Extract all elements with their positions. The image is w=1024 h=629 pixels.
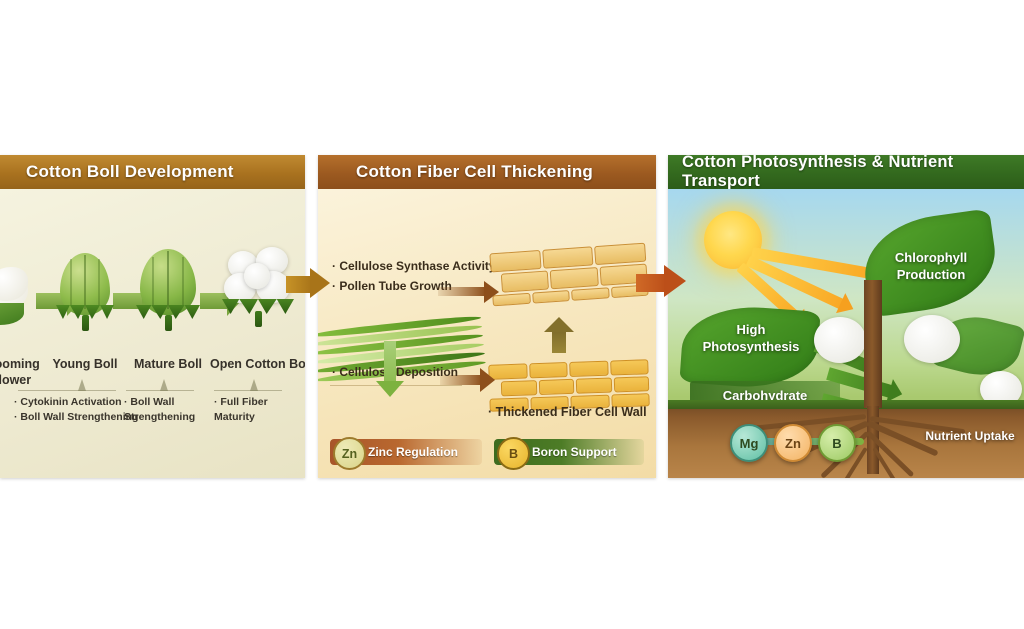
note-group-2: · Boll Wall Strengthening xyxy=(124,395,195,425)
bullet-pollen-tube-growth: · Pollen Tube Growth xyxy=(332,277,452,296)
stage-label-blooming-flower-line2: Flower xyxy=(0,373,44,387)
brick xyxy=(501,380,537,396)
brick xyxy=(538,379,574,395)
panel-1-title: Cotton Boll Development xyxy=(0,155,305,189)
nutrient-badge-b[interactable]: B xyxy=(818,424,856,462)
zn-symbol-icon: Zn xyxy=(333,437,366,470)
cellulose-down-arrow-head xyxy=(376,381,404,397)
chip-zinc-regulation[interactable]: Zn Zinc Regulation xyxy=(330,439,482,465)
brick xyxy=(613,376,649,392)
nutrient-b-label: B xyxy=(832,436,841,451)
panel-cotton-boll-development: Cotton Boll Development xyxy=(0,155,305,478)
infographic-canvas: Cotton Boll Development xyxy=(0,0,1024,629)
open-cotton-boll-illustration xyxy=(222,247,296,333)
mature-boll-illustration xyxy=(135,249,201,333)
note-cytokinin-activation: · Cytokinin Activation xyxy=(14,395,138,410)
tag-chlorophyll-line1: Chlorophyll xyxy=(876,249,986,266)
note-divider-3 xyxy=(214,390,282,391)
nutrient-badge-mg[interactable]: Mg xyxy=(730,424,768,462)
arrow-to-lower-cell-wall-head xyxy=(480,368,495,392)
chip-boron-label: Boron Support xyxy=(532,445,617,459)
note-group-3: · Full Fiber Maturity xyxy=(214,395,268,425)
panel-2-title: Cotton Fiber Cell Thickening xyxy=(318,155,656,189)
brick xyxy=(489,250,541,272)
note-boll-wall: · Boll Wall xyxy=(124,395,195,410)
stage-label-open-cotton-boll: Open Cotton Boll xyxy=(210,357,305,371)
note-strengthening: Strengthening xyxy=(124,410,195,425)
young-boll-illustration xyxy=(54,251,116,333)
thick-cell-wall-diagram xyxy=(488,242,649,308)
note-divider-1 xyxy=(18,390,116,391)
brick xyxy=(576,378,612,394)
cotton-boll-plant-left xyxy=(814,317,866,363)
panel-cotton-photosynthesis-nutrient-transport: Cotton Photosynthesis & Nutrient Transpo… xyxy=(668,155,1024,478)
panel-3-body: Chlorophyll Production High Photosynthes… xyxy=(668,189,1024,478)
tag-high-photosynthesis: High Photosynthesis xyxy=(690,321,812,355)
note-maturity: Maturity xyxy=(214,410,268,425)
panel-cotton-fiber-cell-thickening: Cotton Fiber Cell Thickening · Cellulose… xyxy=(318,155,656,478)
divider-peak-1 xyxy=(78,379,86,391)
thickening-up-arrow-head xyxy=(544,317,574,332)
brick xyxy=(571,287,609,301)
brick xyxy=(542,246,594,268)
panel-1-body: Blooming Flower Young Boll Mature Boll O… xyxy=(0,189,305,478)
tag-chlorophyll-production: Chlorophyll Production xyxy=(876,249,986,283)
grass-line xyxy=(668,400,1024,409)
blooming-flower-illustration xyxy=(0,267,40,329)
note-boll-wall-strengthening: · Boll Wall Strengthening xyxy=(14,410,138,425)
note-full-fiber: · Full Fiber xyxy=(214,395,268,410)
panel-3-title: Cotton Photosynthesis & Nutrient Transpo… xyxy=(668,155,1024,189)
tag-nutrient-uptake: Nutrient Uptake xyxy=(918,428,1022,445)
brick xyxy=(529,362,568,378)
plant-trunk xyxy=(864,280,882,408)
bullet-cellulose-synthase-activity: · Cellulose Synthase Activity xyxy=(332,257,496,276)
chip-boron-support[interactable]: B Boron Support xyxy=(494,439,644,465)
arrow-to-upper-cell-wall xyxy=(438,287,486,296)
nutrient-zn-label: Zn xyxy=(785,436,801,451)
stage-label-blooming-flower-line1: Blooming xyxy=(0,357,44,371)
panel-2-body: · Cellulose Synthase Activity · Pollen T… xyxy=(318,189,656,478)
nutrient-badge-zn[interactable]: Zn xyxy=(774,424,812,462)
chip-zinc-label: Zinc Regulation xyxy=(368,445,458,459)
stage-label-mature-boll: Mature Boll xyxy=(128,357,208,371)
brick xyxy=(492,293,530,307)
soil-layer: Mg Zn B Nutrient Uptake xyxy=(668,400,1024,478)
brick xyxy=(501,270,550,292)
divider-peak-3 xyxy=(250,379,258,391)
tag-photosynthesis: Photosynthesis xyxy=(690,338,812,355)
b-symbol-icon: B xyxy=(497,437,530,470)
brick xyxy=(569,361,608,377)
divider-peak-2 xyxy=(160,379,168,391)
nutrient-mg-label: Mg xyxy=(740,436,759,451)
tag-high: High xyxy=(690,321,812,338)
tag-chlorophyll-line2: Production xyxy=(876,266,986,283)
stage-label-young-boll: Young Boll xyxy=(45,357,125,371)
brick xyxy=(610,359,649,375)
caption-thickened-fiber-cell-wall: · Thickened Fiber Cell Wall xyxy=(488,403,647,422)
cellulose-down-arrow xyxy=(384,341,396,385)
brick xyxy=(550,267,599,289)
note-group-1: · Cytokinin Activation · Boll Wall Stren… xyxy=(14,395,138,425)
brick xyxy=(594,243,646,265)
brick xyxy=(532,290,570,304)
thickening-up-arrow xyxy=(552,329,566,353)
cotton-boll-plant-right xyxy=(904,315,960,363)
